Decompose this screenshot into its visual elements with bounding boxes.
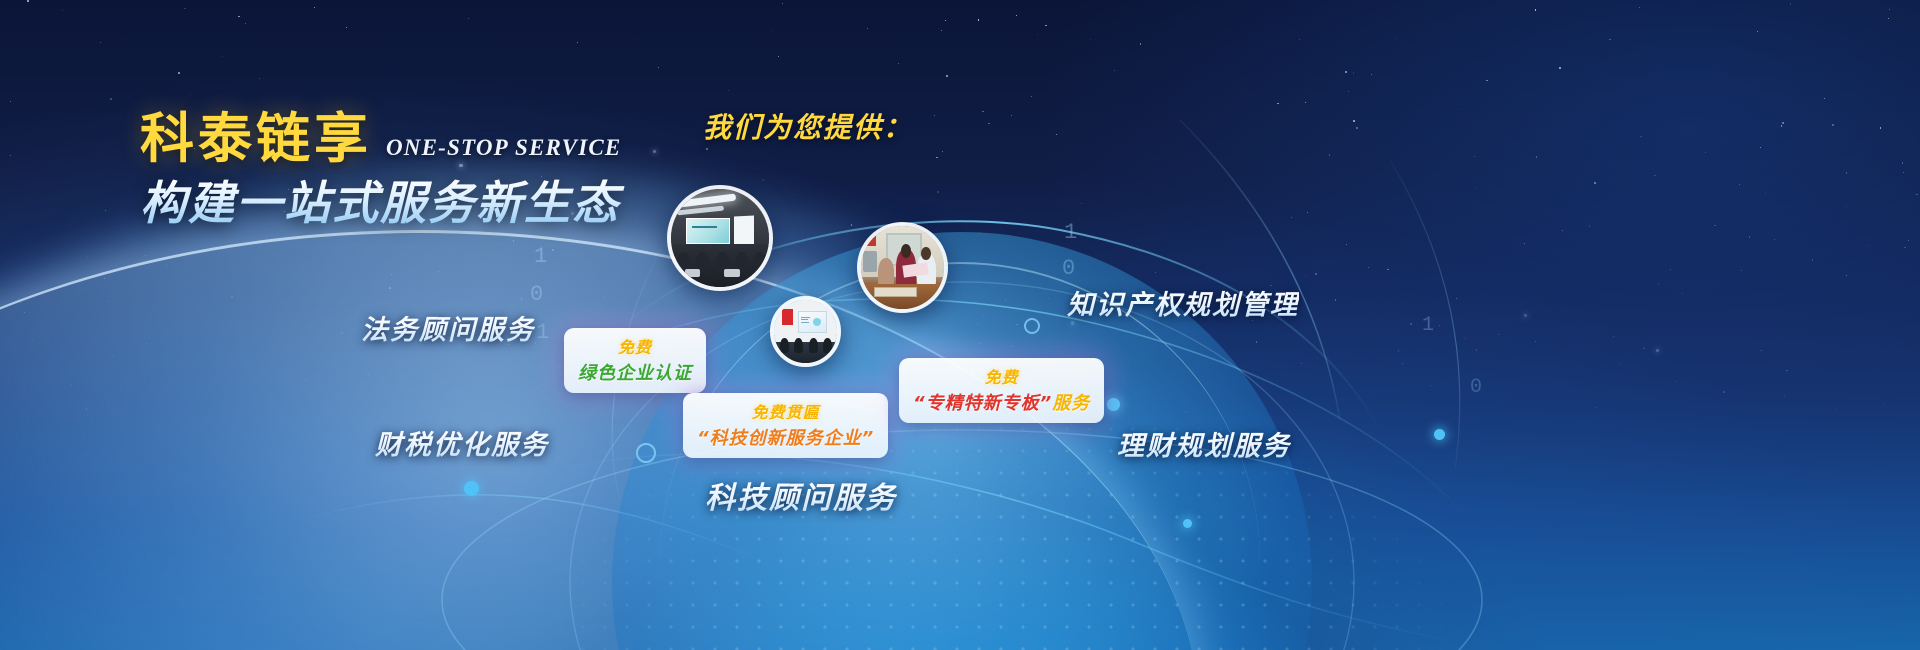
accent-ring — [1024, 318, 1040, 334]
badge-line1: 免费 — [913, 364, 1090, 388]
brand-name-en: ONE-STOP SERVICE — [386, 135, 621, 166]
badge-line1: 免费贯匾 — [697, 399, 874, 423]
badge-line2-tail: 服务 — [1052, 393, 1090, 414]
svg-text:1: 1 — [1422, 314, 1434, 337]
badge-line2: “专精特新专板”服务 — [913, 389, 1090, 415]
badge-line2-quoted: “专精特新专板” — [913, 393, 1052, 414]
accent-dot — [1434, 429, 1445, 440]
svg-text:1: 1 — [1064, 220, 1077, 245]
badge-sme-board[interactable]: 免费 “专精特新专板”服务 — [899, 358, 1104, 423]
provide-label: 我们为您提供： — [703, 106, 913, 146]
service-label-wealth: 理财规划服务 — [1117, 424, 1291, 463]
badge-line1: 免费 — [578, 334, 692, 358]
brand-tagline: 构建一站式服务新生态 — [140, 178, 700, 229]
badge-tech-innovation[interactable]: 免费贯匾 “科技创新服务企业” — [683, 393, 888, 458]
accent-ring — [636, 443, 656, 463]
brand-name-cn: 科泰链享 — [140, 112, 372, 166]
accent-dot — [1183, 519, 1192, 528]
accent-dot — [464, 481, 479, 496]
service-label-legal: 法务顾问服务 — [361, 308, 535, 347]
accent-dot — [1107, 398, 1120, 411]
service-label-finance: 财税优化服务 — [375, 423, 549, 462]
promo-banner: 1 0 1 1 0 1 0 科泰链享 ONE-STOP SERVICE 构建一站… — [0, 0, 1920, 650]
photo-office-review — [857, 222, 948, 313]
service-label-ip: 知识产权规划管理 — [1067, 283, 1299, 322]
brand-block: 科泰链享 ONE-STOP SERVICE 构建一站式服务新生态 — [140, 112, 700, 229]
badge-green-cert[interactable]: 免费 绿色企业认证 — [564, 328, 706, 393]
service-label-tech: 科技顾问服务 — [705, 473, 897, 517]
photo-lecture-hall — [667, 185, 773, 291]
badge-line2: “科技创新服务企业” — [697, 424, 874, 450]
badge-line2: 绿色企业认证 — [578, 359, 692, 385]
photo-meeting-room — [770, 296, 841, 367]
svg-text:0: 0 — [1470, 376, 1482, 399]
